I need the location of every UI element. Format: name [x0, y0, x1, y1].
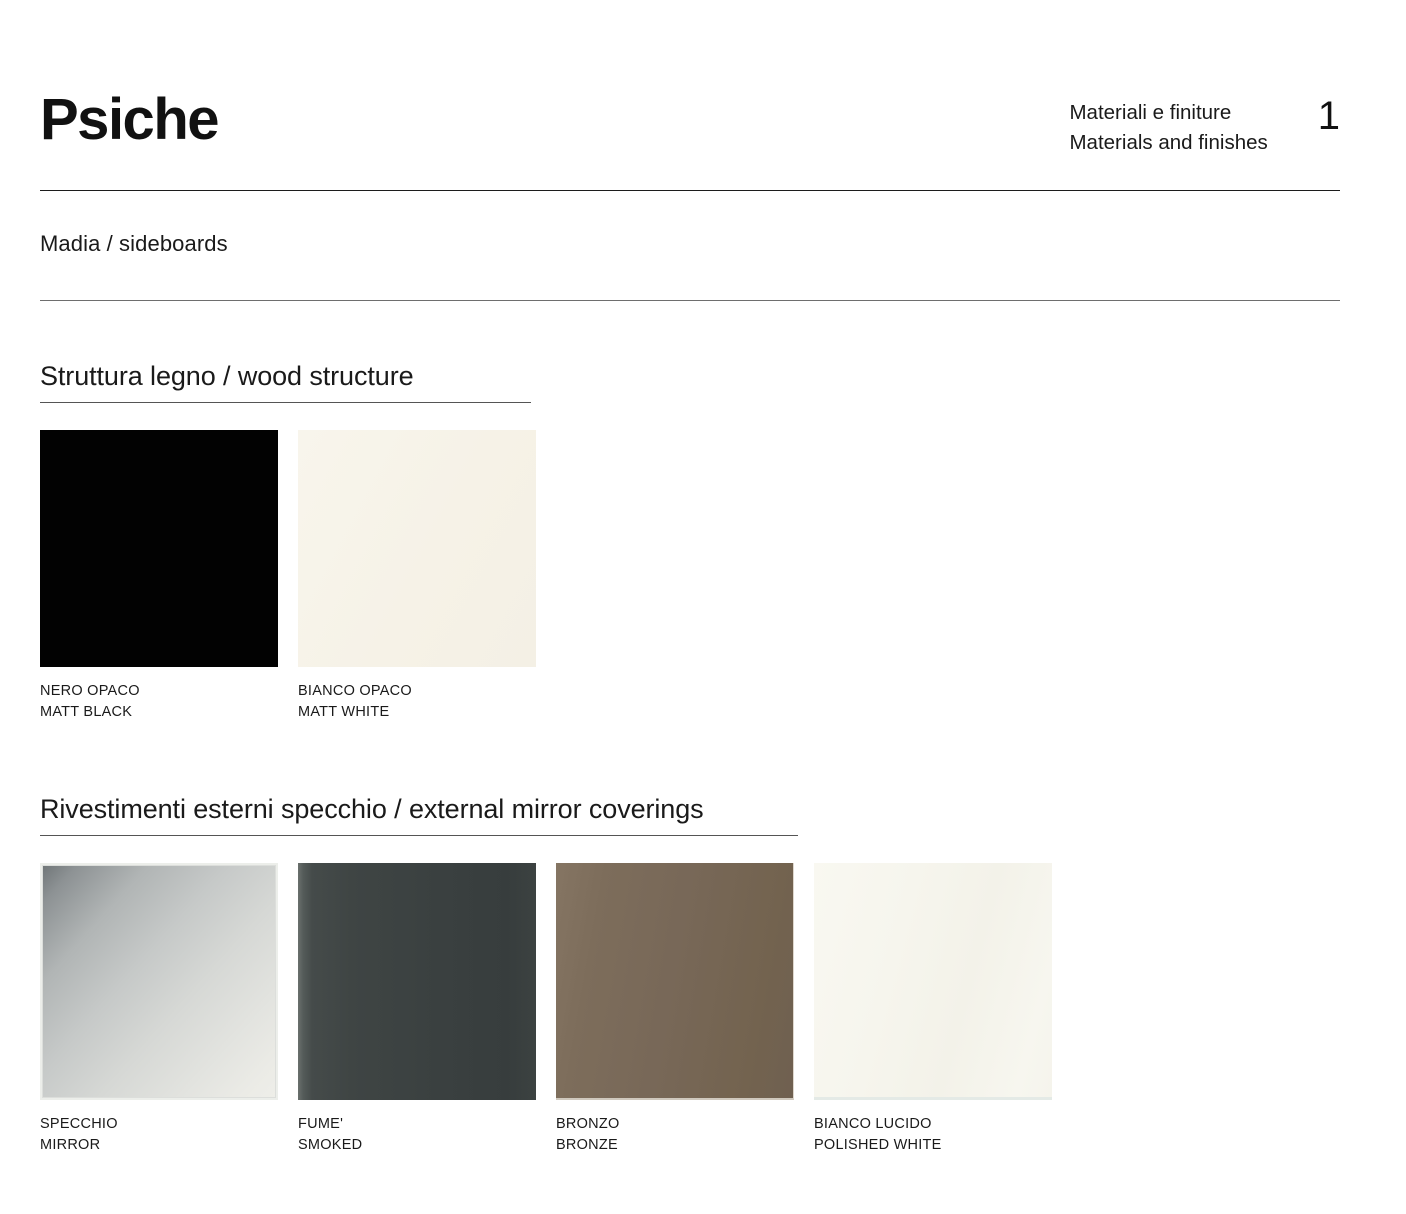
header-divider-top	[40, 190, 1340, 191]
swatch-name-it: BIANCO OPACO	[298, 681, 536, 702]
page-number: 1	[1318, 96, 1340, 136]
header-divider-bottom	[40, 300, 1340, 301]
swatch-caption: BIANCO LUCIDO POLISHED WHITE	[814, 1114, 1052, 1155]
swatch-chip-polished-white[interactable]	[814, 863, 1052, 1100]
swatch-chip-bronze[interactable]	[556, 863, 794, 1100]
swatch-name-it: SPECCHIO	[40, 1114, 278, 1135]
header-subtitle-en: Materials and finishes	[1069, 128, 1267, 158]
swatch-name-it: FUME'	[298, 1114, 536, 1135]
swatch-name-en: MATT WHITE	[298, 702, 536, 723]
section-wood-structure: Struttura legno / wood structure NERO OP…	[40, 360, 556, 723]
header-meta: Materiali e finiture Materials and finis…	[1069, 88, 1340, 159]
swatch-chip-matt-black[interactable]	[40, 430, 278, 667]
swatch-name-en: MATT BLACK	[40, 702, 278, 723]
swatch-row: NERO OPACO MATT BLACK BIANCO OPACO MATT …	[40, 430, 556, 722]
swatch-item-bronzo[interactable]: BRONZO BRONZE	[556, 863, 794, 1155]
swatch-item-fume[interactable]: FUME' SMOKED	[298, 863, 536, 1155]
swatch-caption: FUME' SMOKED	[298, 1114, 536, 1155]
swatch-name-it: BIANCO LUCIDO	[814, 1114, 1052, 1135]
header-subtitle-group: Materiali e finiture Materials and finis…	[1069, 98, 1267, 159]
swatch-chip-mirror[interactable]	[40, 863, 278, 1100]
page-header: Psiche Materiali e finiture Materials an…	[40, 88, 1340, 159]
swatch-chip-matt-white[interactable]	[298, 430, 536, 667]
swatch-name-en: SMOKED	[298, 1135, 536, 1156]
section-underline	[40, 402, 531, 403]
swatch-item-specchio[interactable]: SPECCHIO MIRROR	[40, 863, 278, 1155]
materials-finishes-page: Psiche Materiali e finiture Materials an…	[0, 0, 1406, 1214]
swatch-caption: SPECCHIO MIRROR	[40, 1114, 278, 1155]
swatch-name-en: POLISHED WHITE	[814, 1135, 1052, 1156]
swatch-name-it: NERO OPACO	[40, 681, 278, 702]
swatch-caption: BRONZO BRONZE	[556, 1114, 794, 1155]
swatch-caption: BIANCO OPACO MATT WHITE	[298, 681, 536, 722]
swatch-name-it: BRONZO	[556, 1114, 794, 1135]
section-heading: Rivestimenti esterni specchio / external…	[40, 793, 1072, 825]
header-subtitle-it: Materiali e finiture	[1069, 98, 1267, 128]
swatch-item-bianco-lucido[interactable]: BIANCO LUCIDO POLISHED WHITE	[814, 863, 1052, 1155]
swatch-row: SPECCHIO MIRROR FUME' SMOKED BRONZO BRON…	[40, 863, 1072, 1155]
swatch-caption: NERO OPACO MATT BLACK	[40, 681, 278, 722]
swatch-item-nero-opaco[interactable]: NERO OPACO MATT BLACK	[40, 430, 278, 722]
swatch-chip-smoked[interactable]	[298, 863, 536, 1100]
section-underline	[40, 835, 798, 836]
swatch-name-en: MIRROR	[40, 1135, 278, 1156]
category-label: Madia / sideboards	[40, 231, 228, 257]
page-title: Psiche	[40, 92, 218, 149]
section-heading: Struttura legno / wood structure	[40, 360, 556, 392]
section-mirror-coverings: Rivestimenti esterni specchio / external…	[40, 793, 1072, 1156]
swatch-item-bianco-opaco[interactable]: BIANCO OPACO MATT WHITE	[298, 430, 536, 722]
swatch-name-en: BRONZE	[556, 1135, 794, 1156]
